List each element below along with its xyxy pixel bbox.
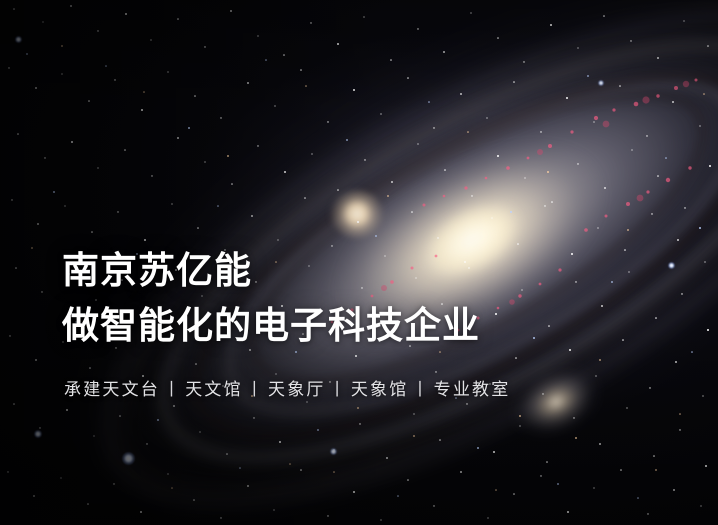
subtitle-separator: 丨 — [326, 380, 351, 399]
bright-star-right — [668, 262, 675, 269]
subtitle-item: 天象厅 — [268, 380, 326, 399]
subtitle-item: 天象馆 — [351, 380, 409, 399]
subtitle-item: 承建天文台 — [64, 380, 160, 399]
hero-headline-line-2: 做智能化的电子科技企业 — [62, 298, 662, 353]
subtitle-item: 天文馆 — [185, 380, 243, 399]
bright-star-top-right — [598, 80, 604, 86]
hero-banner: 南京苏亿能 做智能化的电子科技企业 承建天文台丨天文馆丨天象厅丨天象馆丨专业教室 — [0, 0, 718, 525]
hero-headline-line-1: 南京苏亿能 — [62, 243, 662, 298]
hero-copy: 南京苏亿能 做智能化的电子科技企业 承建天文台丨天文馆丨天象厅丨天象馆丨专业教室 — [62, 243, 662, 400]
bright-star-lower-left — [34, 430, 42, 438]
subtitle-separator: 丨 — [408, 380, 433, 399]
subtitle-separator: 丨 — [243, 380, 268, 399]
subtitle-item: 专业教室 — [434, 380, 511, 399]
subtitle-separator: 丨 — [160, 380, 185, 399]
hero-subtitle: 承建天文台丨天文馆丨天象厅丨天象馆丨专业教室 — [64, 375, 662, 400]
bright-blue-star — [122, 452, 135, 465]
bright-star-bottom-center — [330, 448, 337, 455]
bright-star-upper-left — [15, 36, 22, 43]
